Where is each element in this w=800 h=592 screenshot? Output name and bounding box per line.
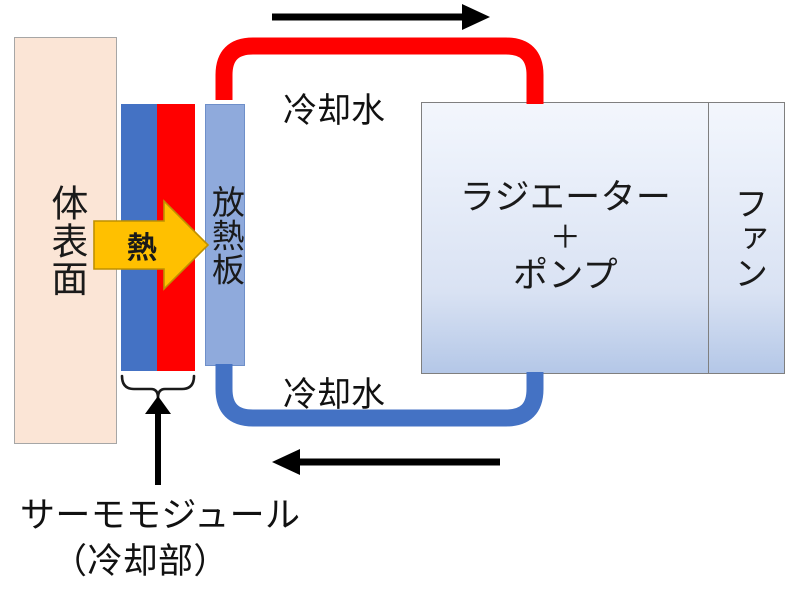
coolant-label-bottom: 冷却水 [283,367,385,416]
heat-arrow-label: 熱 [106,199,178,291]
radiator-label-line1: ラジエーター [460,178,671,219]
heat-plate-label-wrap: 放熱板 [206,105,244,365]
body-surface-label: 体表面 [46,184,85,297]
radiator-label-plus: ＋ [460,220,671,257]
radiator-label-line3: ポンプ [460,256,671,297]
top-flow-arrow [272,4,490,30]
thermomodule-callout-arrow [145,396,171,485]
radiator-fan-group: ラジエーター ＋ ポンプ ファン [421,102,787,374]
coolant-label-top: 冷却水 [283,83,385,132]
bottom-flow-arrow [272,449,500,475]
fan-label: ファン [729,186,765,290]
heat-flow-arrow: 熱 [92,199,210,291]
radiator-pump-block: ラジエーター ＋ ポンプ [421,102,710,374]
fan-block: ファン [708,102,785,374]
heat-plate-label: 放熱板 [208,185,243,286]
diagram-canvas: 体表面 放熱板 熱 ラジエーター ＋ ポンプ ファン [0,0,800,592]
thermomodule-brace [122,376,194,398]
thermomodule-callout-sublabel: （冷却部） [52,533,229,584]
thermomodule-callout-label: サーモモジュール [20,487,300,538]
heat-dissipation-plate: 放熱板 [205,104,245,366]
radiator-pump-label-wrap: ラジエーター ＋ ポンプ [460,178,671,297]
